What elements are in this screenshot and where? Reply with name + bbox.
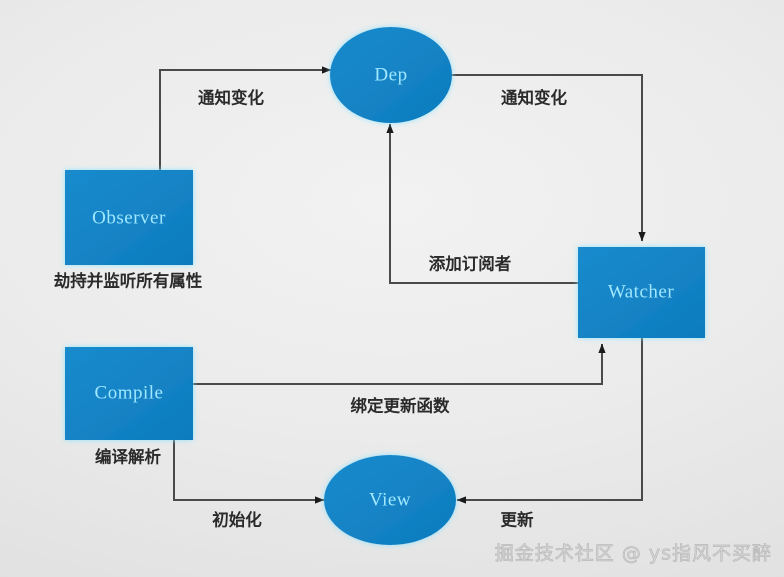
node-observer[interactable]: Observer (65, 170, 193, 265)
edge-label-observer-dep: 通知变化 (198, 88, 265, 108)
caption-compile: 编译解析 (95, 447, 162, 467)
edge-label-dep-watcher: 通知变化 (501, 88, 568, 108)
edge-watcher-view: 更新 (457, 338, 642, 530)
edge-label-compile-view: 初始化 (212, 510, 262, 530)
edge-watcher-dep: 添加订阅者 (390, 124, 578, 283)
edge-dep-watcher: 通知变化 (451, 75, 642, 241)
diagram-canvas: 通知变化 通知变化 添加订阅者 绑定更新函数 初始化 更新 (0, 0, 784, 577)
node-watcher[interactable]: Watcher (578, 247, 705, 338)
node-label-watcher: Watcher (608, 281, 674, 302)
edge-observer-dep: 通知变化 (160, 70, 331, 170)
edge-compile-view: 初始化 (174, 440, 324, 530)
flow-diagram: 通知变化 通知变化 添加订阅者 绑定更新函数 初始化 更新 (0, 0, 784, 577)
node-label-view: View (369, 489, 411, 510)
node-label-observer: Observer (92, 207, 166, 228)
edge-label-compile-watcher: 绑定更新函数 (351, 396, 451, 416)
node-label-dep: Dep (374, 64, 407, 85)
watermark: 掘金技术社区 @ ys指风不买醉 (495, 543, 772, 565)
node-label-compile: Compile (95, 382, 164, 403)
node-dep[interactable]: Dep (330, 27, 452, 123)
edge-label-watcher-dep: 添加订阅者 (429, 254, 512, 274)
caption-observer: 劫持并监听所有属性 (54, 271, 203, 291)
node-view[interactable]: View (324, 455, 456, 545)
node-compile[interactable]: Compile (65, 347, 193, 440)
edge-compile-watcher: 绑定更新函数 (193, 344, 602, 416)
edge-label-watcher-view: 更新 (501, 510, 535, 530)
